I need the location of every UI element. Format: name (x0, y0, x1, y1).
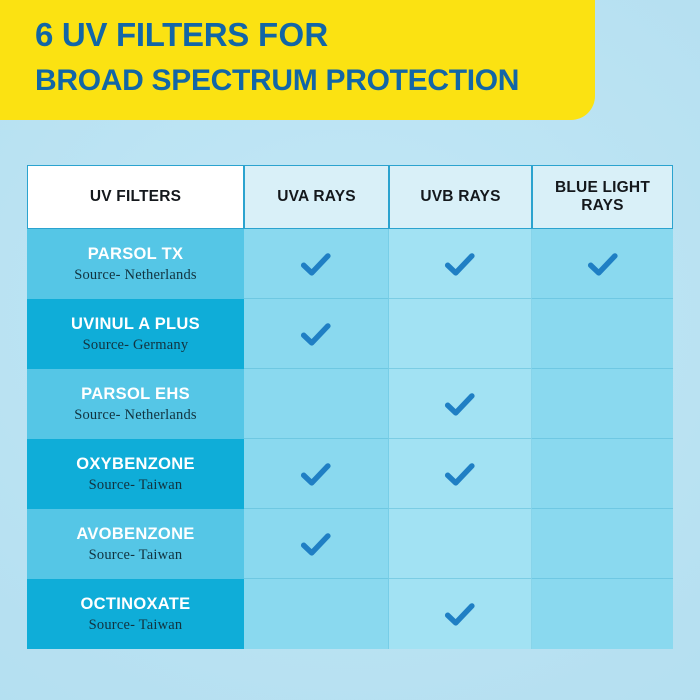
table-body: PARSOL TXSource- NetherlandsUVINUL A PLU… (27, 229, 673, 649)
table-header-row: UV FILTERS UVA RAYS UVB RAYS BLUE LIGHT … (27, 165, 673, 229)
checkmark-icon (299, 527, 333, 561)
uva-rays-cell (244, 439, 389, 509)
filter-source: Source- Netherlands (74, 267, 197, 283)
checkmark-icon (299, 317, 333, 351)
filter-source: Source- Germany (83, 337, 189, 353)
blue-light-rays-cell (532, 439, 673, 509)
uv-filters-table: UV FILTERS UVA RAYS UVB RAYS BLUE LIGHT … (27, 165, 673, 649)
table-row: OCTINOXATESource- Taiwan (27, 579, 673, 649)
uva-rays-cell (244, 229, 389, 299)
banner-title-strong: 6 UV FILTERS (35, 16, 249, 53)
uvb-rays-cell (389, 579, 532, 649)
banner-title-line-2: BROAD SPECTRUM PROTECTION (35, 66, 595, 96)
column-header-blue-light-rays: BLUE LIGHT RAYS (532, 165, 673, 229)
column-header-uvb-rays: UVB RAYS (389, 165, 532, 229)
uvb-rays-cell (389, 509, 532, 579)
uvb-rays-cell (389, 299, 532, 369)
filter-name-cell: OCTINOXATESource- Taiwan (27, 579, 244, 649)
uv-filters-infographic: 6 UV FILTERSFOR BROAD SPECTRUM PROTECTIO… (0, 0, 700, 700)
blue-light-rays-cell (532, 299, 673, 369)
filter-name: PARSOL TX (88, 245, 184, 263)
table-row: OXYBENZONESource- Taiwan (27, 439, 673, 509)
filter-name-cell: OXYBENZONESource- Taiwan (27, 439, 244, 509)
filter-source: Source- Netherlands (74, 407, 197, 423)
uvb-rays-cell (389, 229, 532, 299)
filter-name: PARSOL EHS (81, 385, 190, 403)
blue-light-rays-cell (532, 509, 673, 579)
checkmark-icon (443, 597, 477, 631)
table-row: PARSOL TXSource- Netherlands (27, 229, 673, 299)
checkmark-icon (443, 387, 477, 421)
checkmark-icon (443, 247, 477, 281)
blue-light-rays-cell (532, 579, 673, 649)
uvb-rays-cell (389, 439, 532, 509)
filter-source: Source- Taiwan (89, 617, 183, 633)
filter-name-cell: AVOBENZONESource- Taiwan (27, 509, 244, 579)
column-header-uva-rays: UVA RAYS (244, 165, 389, 229)
uva-rays-cell (244, 369, 389, 439)
table-row: AVOBENZONESource- Taiwan (27, 509, 673, 579)
banner-title-line-1: 6 UV FILTERSFOR (35, 18, 595, 51)
uva-rays-cell (244, 579, 389, 649)
column-header-uv-filters: UV FILTERS (27, 165, 244, 229)
filter-name: OXYBENZONE (76, 455, 195, 473)
filter-name: AVOBENZONE (76, 525, 194, 543)
blue-light-rays-cell (532, 369, 673, 439)
uvb-rays-cell (389, 369, 532, 439)
uva-rays-cell (244, 509, 389, 579)
filter-name: UVINUL A PLUS (71, 315, 200, 333)
table-row: UVINUL A PLUSSource- Germany (27, 299, 673, 369)
checkmark-icon (586, 247, 620, 281)
filter-name-cell: UVINUL A PLUSSource- Germany (27, 299, 244, 369)
filter-source: Source- Taiwan (89, 477, 183, 493)
checkmark-icon (443, 457, 477, 491)
filter-source: Source- Taiwan (89, 547, 183, 563)
checkmark-icon (299, 457, 333, 491)
table-row: PARSOL EHSSource- Netherlands (27, 369, 673, 439)
checkmark-icon (299, 247, 333, 281)
banner-title-light: FOR (258, 16, 329, 53)
filter-name: OCTINOXATE (81, 595, 191, 613)
blue-light-rays-cell (532, 229, 673, 299)
filter-name-cell: PARSOL EHSSource- Netherlands (27, 369, 244, 439)
uva-rays-cell (244, 299, 389, 369)
filter-name-cell: PARSOL TXSource- Netherlands (27, 229, 244, 299)
header-banner: 6 UV FILTERSFOR BROAD SPECTRUM PROTECTIO… (0, 0, 595, 120)
